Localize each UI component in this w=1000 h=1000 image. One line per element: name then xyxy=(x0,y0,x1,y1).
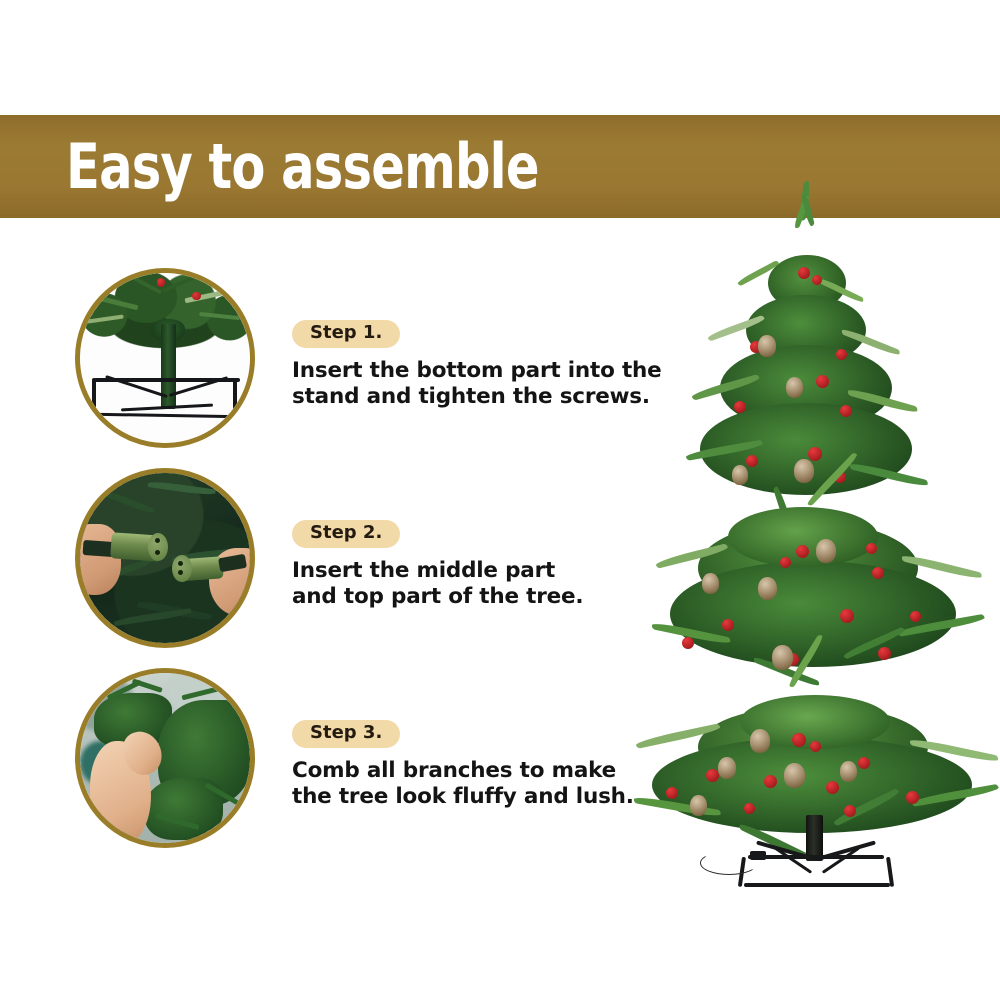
stand-leg xyxy=(744,883,890,887)
berry-icon xyxy=(666,787,678,799)
pine-cone-icon xyxy=(786,377,803,398)
step-3-line-1: Comb all branches to make xyxy=(292,758,652,784)
infographic-page: Easy to assemble xyxy=(0,0,1000,1000)
photo-connector-plug xyxy=(75,468,255,648)
berry-icon xyxy=(796,545,809,558)
step-block-2: Step 2. Insert the middle part and top p… xyxy=(0,462,660,662)
pin-hole xyxy=(155,550,160,555)
berry-icon xyxy=(808,447,822,461)
photo-2-content xyxy=(80,473,250,643)
berry-icon xyxy=(812,275,822,285)
berry-icon xyxy=(826,781,839,794)
step-1-text: Step 1. Insert the bottom part into the … xyxy=(292,320,652,410)
berry-icon xyxy=(906,791,919,804)
pine-cone-icon xyxy=(702,573,719,594)
step-1-description: Insert the bottom part into the stand an… xyxy=(292,358,652,410)
step-2-text: Step 2. Insert the middle part and top p… xyxy=(292,520,652,610)
step-3-badge: Step 3. xyxy=(292,720,400,748)
step-1-line-2: stand and tighten the screws. xyxy=(292,384,652,410)
berry-icon xyxy=(792,733,806,747)
photo-tree-stand-assembly xyxy=(75,268,255,448)
step-2-line-1: Insert the middle part xyxy=(292,558,652,584)
pine-cone-icon xyxy=(784,763,805,788)
connector-female-face xyxy=(172,555,192,582)
step-block-3: Step 3. Comb all branches to make the tr… xyxy=(0,662,660,862)
pine-cone-icon xyxy=(772,645,793,670)
berry-icon xyxy=(858,757,870,769)
page-title: Easy to assemble xyxy=(66,118,706,216)
berry-icon xyxy=(840,609,854,623)
berry-icon xyxy=(910,611,921,622)
step-1-badge: Step 1. xyxy=(292,320,400,348)
berry-icon xyxy=(816,375,829,388)
step-2-line-2: and top part of the tree. xyxy=(292,584,652,610)
tree-top-section xyxy=(690,215,920,505)
pine-cone-icon xyxy=(690,795,707,816)
step-3-description: Comb all branches to make the tree look … xyxy=(292,758,652,810)
pine-cone-icon xyxy=(718,757,736,779)
berry-icon xyxy=(810,741,821,752)
step-block-1: Step 1. Insert the bottom part into the … xyxy=(0,262,660,462)
step-2-badge: Step 2. xyxy=(292,520,400,548)
berry-icon xyxy=(878,647,891,660)
berry-icon xyxy=(157,278,166,287)
berry-icon xyxy=(706,769,719,782)
step-3-line-2: the tree look fluffy and lush. xyxy=(292,784,652,810)
power-plug xyxy=(750,851,766,860)
pine-cone-icon xyxy=(758,335,776,357)
christmas-tree-three-sections xyxy=(640,215,1000,895)
stand-leg xyxy=(92,378,96,415)
berry-icon xyxy=(744,803,755,814)
pine-cone-icon xyxy=(794,459,814,483)
photo-fluffing-branches xyxy=(75,668,255,848)
berry-icon xyxy=(734,401,746,413)
pine-cone-icon xyxy=(758,577,777,600)
pin-hole xyxy=(178,570,183,575)
berry-icon xyxy=(722,619,734,631)
pine-cone-icon xyxy=(840,761,857,782)
pine-cone-icon xyxy=(732,465,748,485)
berry-icon xyxy=(836,349,847,360)
berry-icon xyxy=(866,543,877,554)
step-3-text: Step 3. Comb all branches to make the tr… xyxy=(292,720,652,810)
berry-icon xyxy=(764,775,777,788)
stand-leg xyxy=(233,378,237,415)
step-1-line-1: Insert the bottom part into the xyxy=(292,358,652,384)
pine-cone-icon xyxy=(750,729,770,753)
berry-icon xyxy=(192,292,201,301)
photo-3-content xyxy=(80,673,250,843)
tree-stand xyxy=(738,815,898,895)
berry-icon xyxy=(872,567,884,579)
foliage-mass xyxy=(728,507,878,567)
berry-icon xyxy=(840,405,852,417)
berry-icon xyxy=(780,557,791,568)
berry-icon xyxy=(682,637,694,649)
berry-icon xyxy=(746,455,758,467)
pine-cone-icon xyxy=(816,539,836,563)
step-2-description: Insert the middle part and top part of t… xyxy=(292,558,652,610)
tree-middle-section xyxy=(658,505,978,695)
berry-icon xyxy=(798,267,810,279)
photo-1-content xyxy=(80,273,250,443)
